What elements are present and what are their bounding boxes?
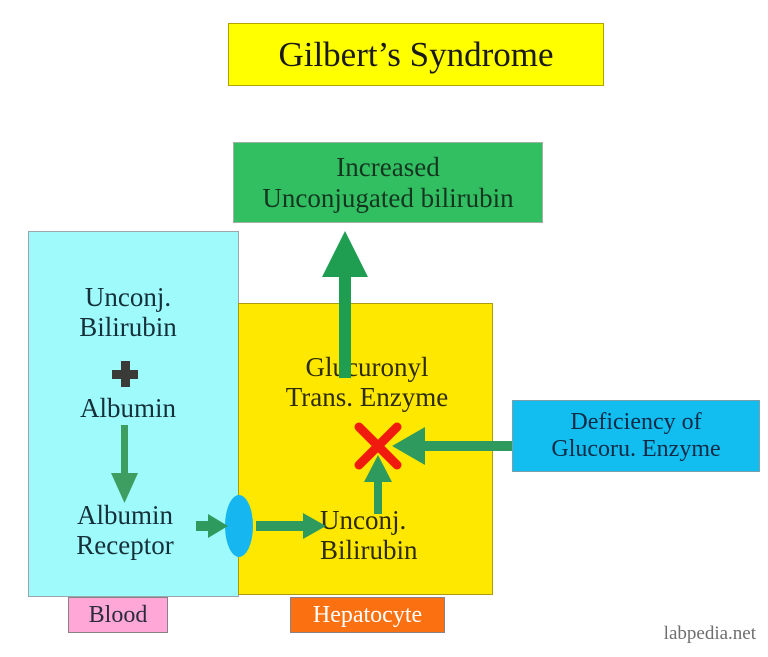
increased-line2: Unconjugated bilirubin bbox=[262, 183, 513, 213]
deficiency-line1: Deficiency of bbox=[551, 409, 720, 436]
albumin-label: Albumin bbox=[38, 393, 218, 423]
receptor-ellipse-icon bbox=[225, 495, 253, 557]
albumin-receptor-line2: Receptor bbox=[30, 530, 220, 560]
diagram-canvas: Gilbert’s Syndrome Increased Unconjugate… bbox=[0, 0, 768, 657]
albumin-receptor-line1: Albumin bbox=[30, 500, 220, 530]
diagram-title-box: Gilbert’s Syndrome bbox=[228, 23, 604, 86]
deficiency-of-glucuronyl-enzyme-box: Deficiency of Glucoru. Enzyme bbox=[512, 400, 760, 472]
unconj-hep-line2: Bilirubin bbox=[320, 535, 495, 565]
blood-label-text: Blood bbox=[89, 602, 148, 629]
unconj-blood-line1: Unconj. bbox=[38, 282, 218, 312]
unconjugated-bilirubin-hepatocyte-label: Unconj. Bilirubin bbox=[320, 505, 495, 565]
blood-compartment-label: Blood bbox=[68, 597, 168, 633]
increased-line1: Increased bbox=[262, 152, 513, 182]
glucuronyl-transferase-enzyme-label: Glucuronyl Trans. Enzyme bbox=[253, 352, 481, 412]
page-title: Gilbert’s Syndrome bbox=[278, 35, 553, 74]
glucuronyl-line1: Glucuronyl bbox=[253, 352, 481, 382]
unconjugated-bilirubin-blood-label: Unconj. Bilirubin bbox=[38, 282, 218, 342]
plus-icon bbox=[112, 361, 138, 387]
increased-unconjugated-bilirubin-box: Increased Unconjugated bilirubin bbox=[233, 142, 543, 223]
unconj-hep-line1: Unconj. bbox=[320, 505, 495, 535]
glucuronyl-line2: Trans. Enzyme bbox=[253, 382, 481, 412]
albumin-receptor-label: Albumin Receptor bbox=[30, 500, 220, 560]
deficiency-line2: Glucoru. Enzyme bbox=[551, 436, 720, 463]
hepatocyte-label-text: Hepatocyte bbox=[313, 602, 422, 629]
watermark: labpedia.net bbox=[664, 623, 756, 645]
hepatocyte-compartment-label: Hepatocyte bbox=[290, 597, 445, 633]
unconj-blood-line2: Bilirubin bbox=[38, 312, 218, 342]
